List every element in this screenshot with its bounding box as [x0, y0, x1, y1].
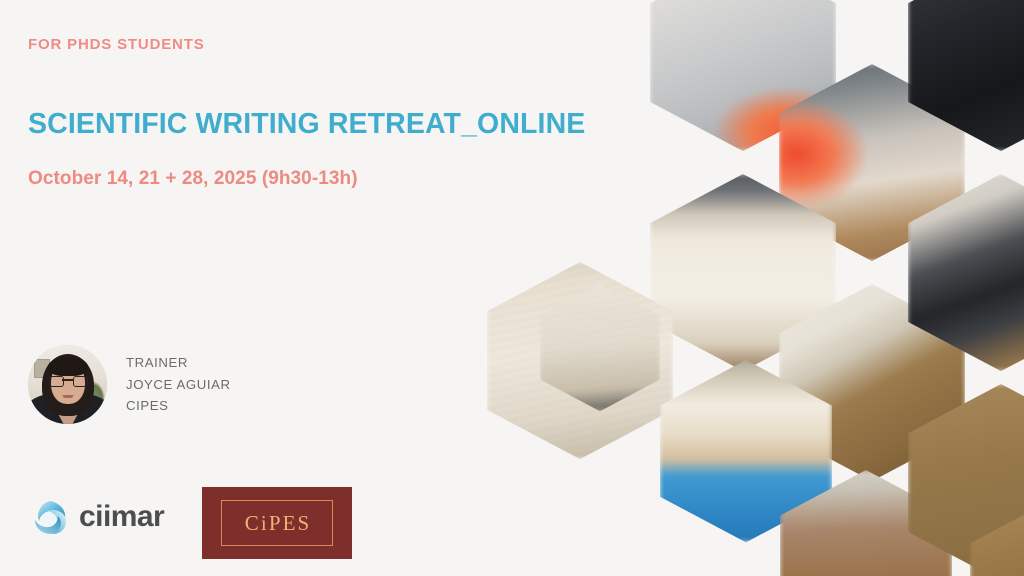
- trainer-details: TRAINER JOYCE AGUIAR CIPES: [126, 352, 231, 416]
- trainer-block: TRAINER JOYCE AGUIAR CIPES: [28, 345, 231, 424]
- cipes-logo: CiPES: [202, 487, 352, 559]
- event-dates: October 14, 21 + 28, 2025 (9h30-13h): [28, 168, 358, 190]
- avatar-fringe: [48, 357, 88, 376]
- audience-kicker: FOR PHDS STUDENTS: [28, 36, 205, 53]
- cipes-wordmark: CiPES: [243, 513, 312, 534]
- avatar-glasses-left: [49, 376, 64, 387]
- trainer-affiliation: CIPES: [126, 395, 231, 416]
- hexagon-photo-collage: [480, 0, 1024, 576]
- trainer-role-label: TRAINER: [126, 352, 231, 373]
- cipes-frame: CiPES: [221, 500, 333, 546]
- ciimar-swirl-icon: [30, 497, 70, 537]
- avatar-mouth: [62, 395, 73, 398]
- avatar-glasses-bridge: [62, 379, 73, 381]
- avatar: [28, 345, 107, 424]
- page-title: SCIENTIFIC WRITING RETREAT_ONLINE: [28, 108, 585, 141]
- trainer-name: JOYCE AGUIAR: [126, 374, 231, 395]
- poster-canvas: FOR PHDS STUDENTS SCIENTIFIC WRITING RET…: [0, 0, 1024, 576]
- ciimar-wordmark: ciimar: [79, 502, 164, 532]
- ciimar-logo: ciimar: [30, 497, 164, 537]
- avatar-glasses-right: [73, 376, 88, 387]
